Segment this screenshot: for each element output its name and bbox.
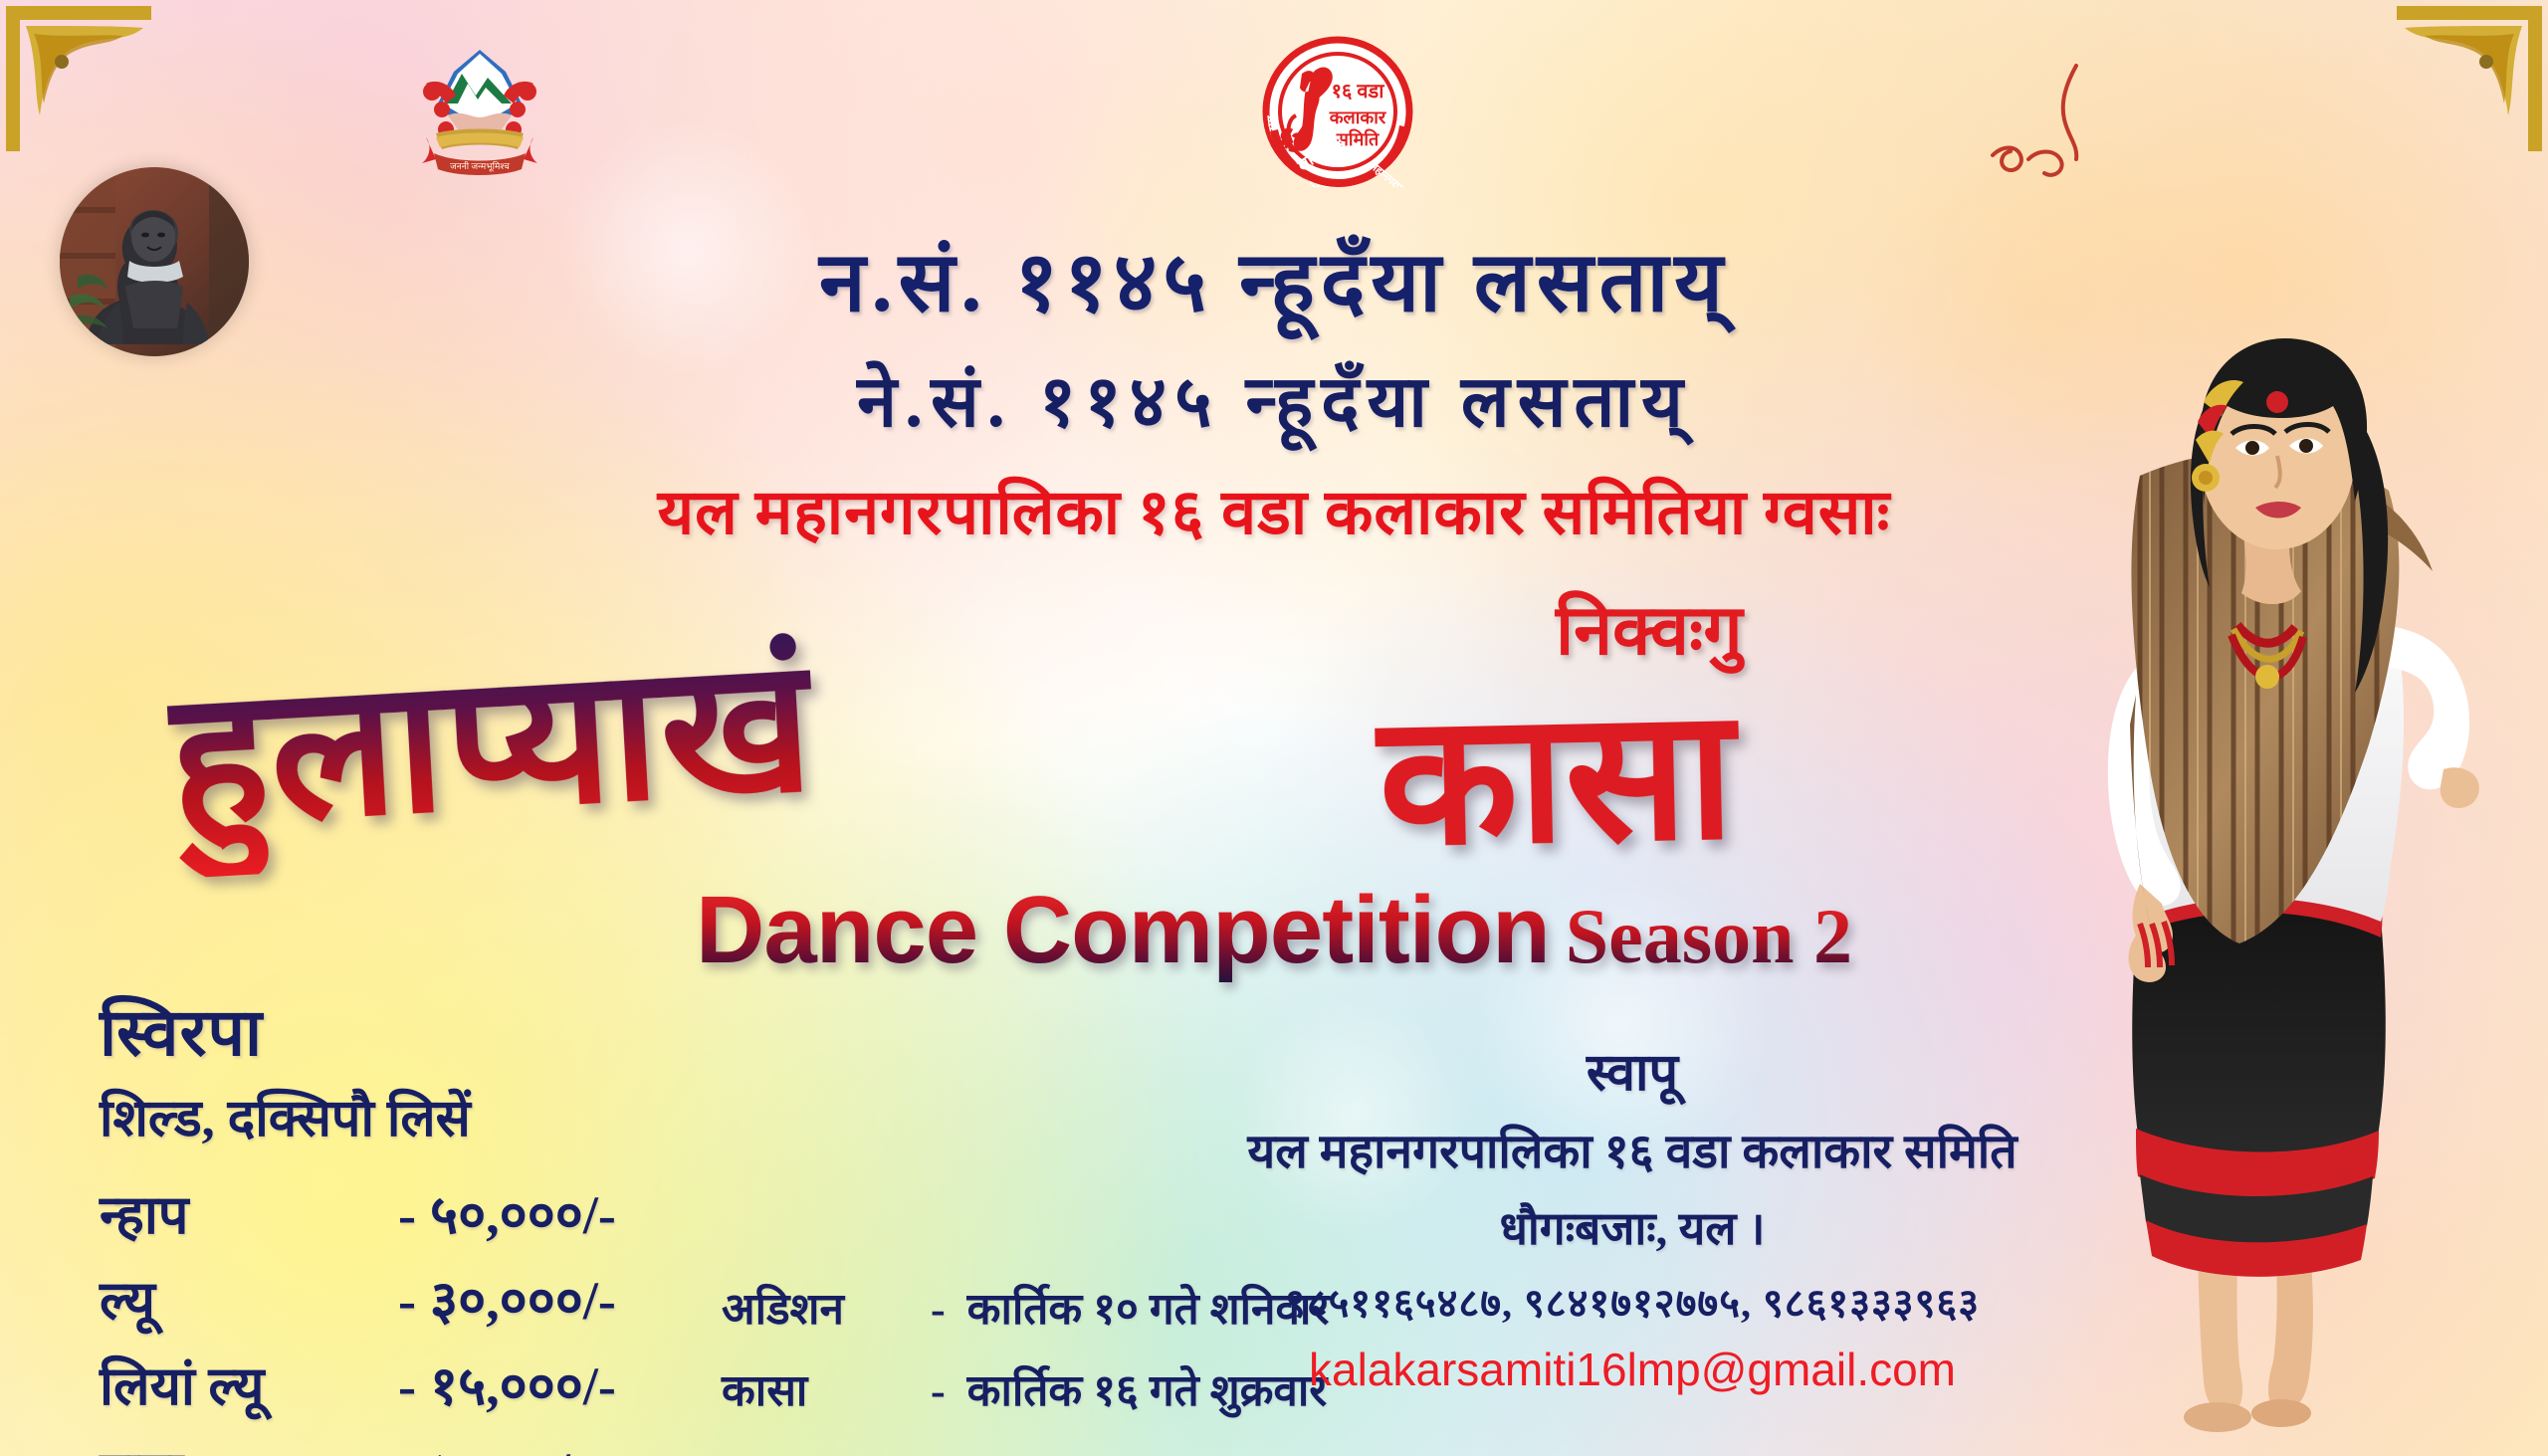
table-row: हःपा - ५,०००/- [100, 1426, 616, 1456]
prize-amount: १५,०००/- [430, 1341, 616, 1426]
prize-amount: ३०,०००/- [430, 1255, 616, 1341]
schedule-key: अडिशन [722, 1277, 931, 1337]
schedule-dash: - [931, 1285, 946, 1334]
svg-text:जननी जन्मभूमिश्च: जननी जन्मभूमिश्च [450, 160, 510, 172]
kalakar-samiti-logo: १६ वडा कलाकार समिति ललितपुर महानगरपालिका… [1262, 36, 1413, 187]
poster-canvas: जननी जन्मभूमिश्च १६ वडा कलाकार समिति ललि… [0, 0, 2548, 1456]
contact-block: स्वापू यल महानगरपालिका १६ वडा कलाकार समि… [1174, 1035, 2090, 1396]
prize-dash: - [398, 1169, 430, 1255]
prize-amount: ५,०००/- [430, 1426, 616, 1456]
table-row: ल्यू - ३०,०००/- [100, 1255, 616, 1341]
subtitle-main: Dance Competition [696, 877, 1550, 983]
schedule-key: कासा [722, 1358, 931, 1418]
prize-label: लियां ल्यू [100, 1341, 398, 1426]
decorative-flourish-icon [1981, 60, 2120, 189]
contact-email[interactable]: kalakarsamiti16lmp@gmail.com [1174, 1343, 2090, 1396]
prize-label: हःपा [100, 1426, 398, 1456]
prize-table: न्हाप - ५०,०००/- ल्यू - ३०,०००/- लियां ल… [100, 1169, 616, 1456]
corner-ornament-icon [4, 4, 153, 153]
svg-text:१६ वडा: १६ वडा [1332, 81, 1385, 103]
nepal-government-emblem: जननी जन्मभूमिश्च [406, 38, 553, 185]
contact-address: धौगःबजाः, यल । [1174, 1196, 2090, 1258]
table-row: न्हाप - ५०,०००/- [100, 1169, 616, 1255]
prize-dash: - [398, 1426, 430, 1456]
prize-heading: स्विरपा [100, 985, 616, 1075]
prize-dash: - [398, 1255, 430, 1341]
schedule-dash: - [931, 1366, 946, 1415]
corner-ornament-icon [2395, 4, 2544, 153]
prize-label: न्हाप [100, 1169, 398, 1255]
prize-subheading: शिल्ड, दक्सिपौ लिसें [100, 1081, 616, 1151]
subtitle-season: Season 2 [1566, 893, 1852, 979]
prize-block: स्विरपा शिल्ड, दक्सिपौ लिसें न्हाप - ५०,… [100, 985, 616, 1456]
contact-heading: स्वापू [1174, 1035, 2090, 1106]
contact-phones: ९८५११६५४८७, ९८४१७१२७७५, ९८६१३३३९६३ [1174, 1274, 2090, 1329]
prize-label: ल्यू [100, 1255, 398, 1341]
title-second: कासा [1376, 643, 1736, 897]
table-row: लियां ल्यू - १५,०००/- [100, 1341, 616, 1426]
prize-dash: - [398, 1341, 430, 1426]
title-main: हुलाप्याखं [162, 591, 819, 879]
prize-amount: ५०,०००/- [430, 1169, 616, 1255]
newari-dancer-illustration [1991, 227, 2548, 1456]
svg-text:कलाकार: कलाकार [1329, 107, 1386, 127]
contact-organization: यल महानगरपालिका १६ वडा कलाकार समिति [1174, 1118, 2090, 1182]
